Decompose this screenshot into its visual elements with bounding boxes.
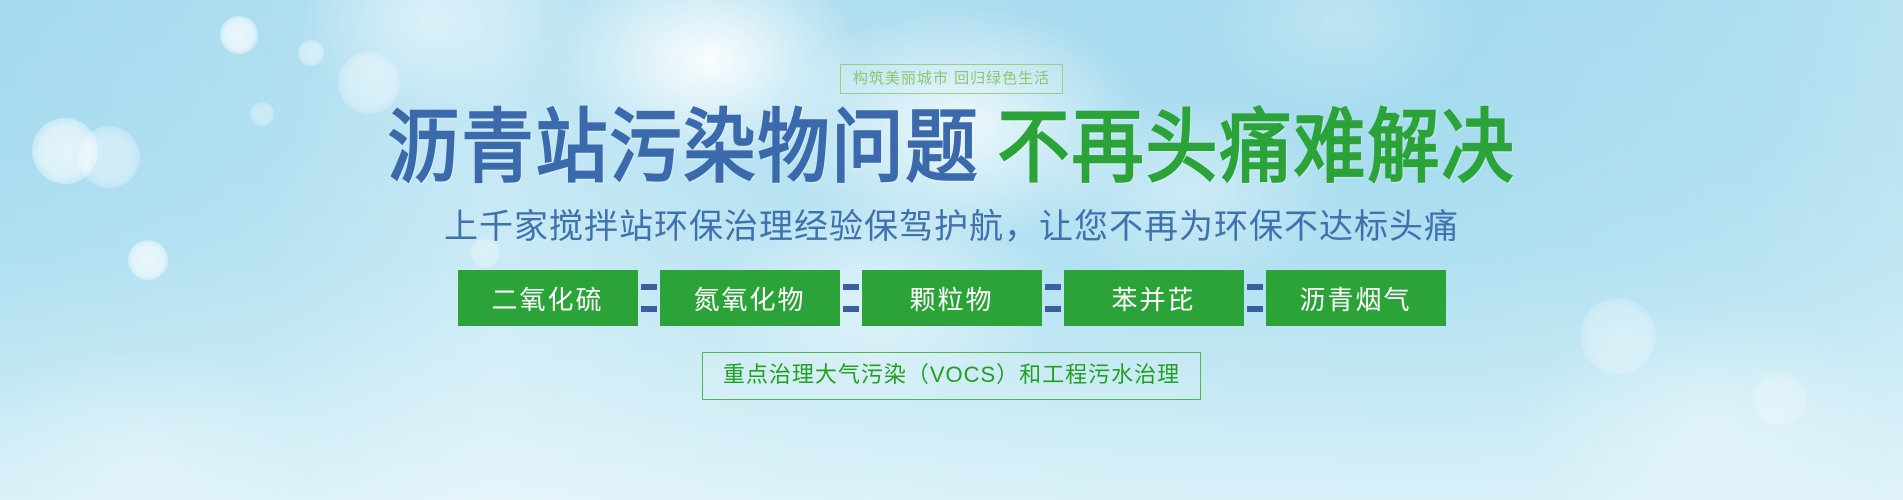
- tag-item[interactable]: 氮氧化物: [660, 270, 840, 326]
- subheadline: 上千家搅拌站环保治理经验保驾护航，让您不再为环保不达标头痛: [444, 207, 1459, 248]
- banner-content: 构筑美丽城市 回归绿色生活 沥青站污染物问题不再头痛难解决 上千家搅拌站环保治理…: [0, 0, 1903, 500]
- tag-separator: [840, 270, 862, 326]
- tag-item[interactable]: 二氧化硫: [458, 270, 638, 326]
- eyebrow-tagline: 构筑美丽城市 回归绿色生活: [840, 64, 1063, 94]
- tag-item[interactable]: 沥青烟气: [1266, 270, 1446, 326]
- tag-separator: [1244, 270, 1266, 326]
- headline-part-accent: 不再头痛难解决: [998, 104, 1516, 194]
- tag-separator: [638, 270, 660, 326]
- page-title: 沥青站污染物问题不再头痛难解决: [387, 108, 1515, 190]
- tag-item[interactable]: 苯并芘: [1064, 270, 1244, 326]
- tag-separator: [1042, 270, 1064, 326]
- pollutant-tag-list: 二氧化硫 氮氧化物 颗粒物 苯并芘 沥青烟气: [458, 270, 1446, 326]
- headline-part-primary: 沥青站污染物问题: [387, 104, 979, 194]
- promo-banner: 构筑美丽城市 回归绿色生活 沥青站污染物问题不再头痛难解决 上千家搅拌站环保治理…: [0, 0, 1903, 500]
- tag-item[interactable]: 颗粒物: [862, 270, 1042, 326]
- service-scope-note: 重点治理大气污染（VOCS）和工程污水治理: [702, 352, 1201, 400]
